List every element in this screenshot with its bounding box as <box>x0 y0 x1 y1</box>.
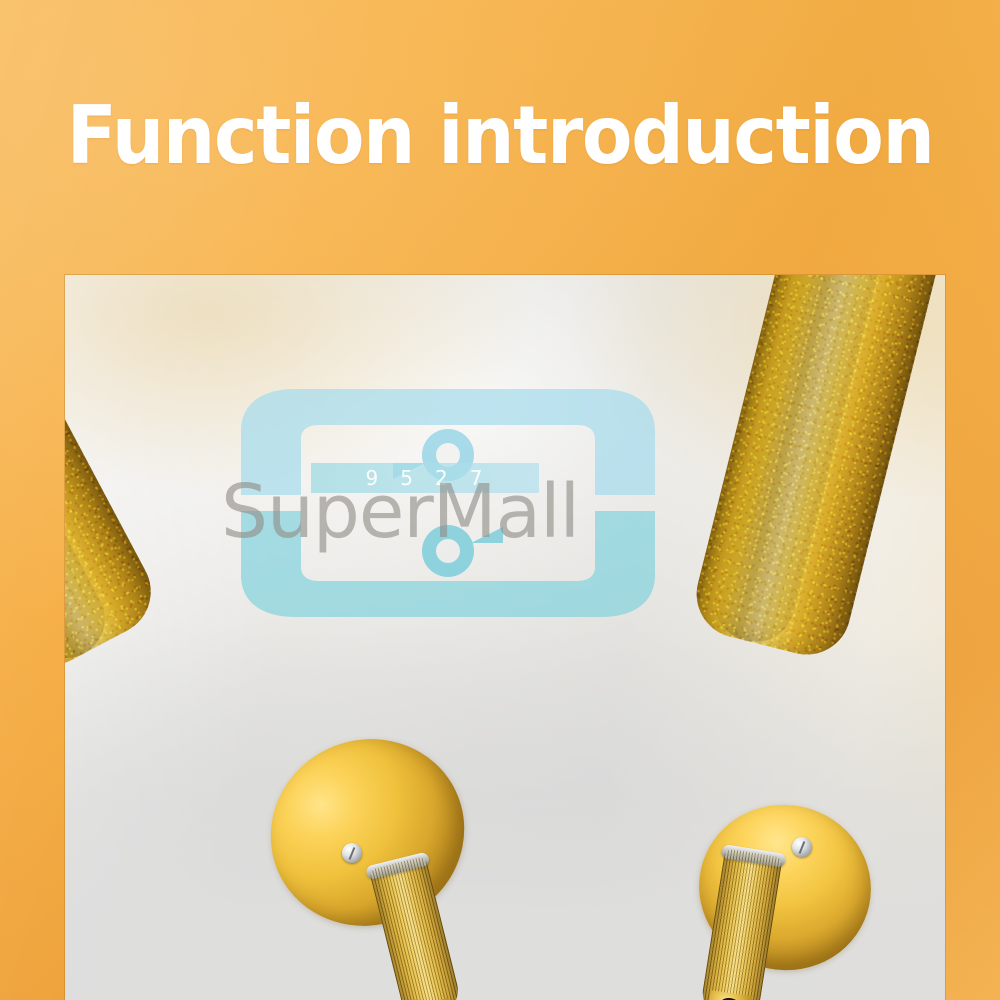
product-photo: 9 5 2 7 SuperMall Bit holding range 0.7~… <box>65 275 945 1000</box>
title-banner: Function introduction <box>0 88 1000 184</box>
page-title: Function introduction <box>67 96 934 176</box>
chrome-screw-left <box>342 843 362 863</box>
chrome-screw-right <box>792 837 812 857</box>
